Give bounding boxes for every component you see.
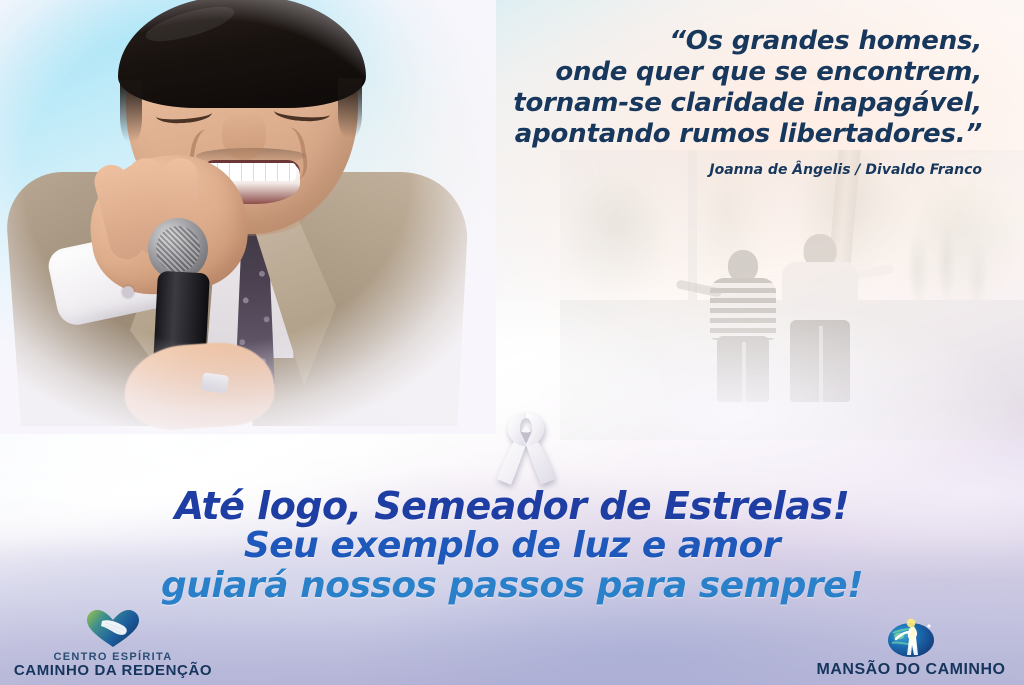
- logo-left-line-2: CAMINHO DA REDENÇÃO: [14, 663, 212, 679]
- portrait-hair: [118, 0, 366, 108]
- logo-mansao-do-caminho: MANSÃO DO CAMINHO: [808, 617, 1014, 679]
- quote-attribution: Joanna de Ângelis / Divaldo Franco: [442, 162, 982, 178]
- cuff-button: [122, 286, 134, 298]
- headline-line-3: guiará nossos passos para sempre!: [0, 566, 1024, 606]
- portrait-nose: [222, 112, 266, 160]
- headline-line-2: Seu exemplo de luz e amor: [0, 526, 1024, 566]
- microphone-grill: [156, 226, 200, 272]
- globe-figure-icon: [885, 617, 937, 659]
- logo-right-text: MANSÃO DO CAMINHO: [817, 662, 1006, 679]
- quote-block: “Os grandes homens, onde quer que se enc…: [442, 26, 982, 178]
- white-awareness-ribbon-icon: [489, 409, 563, 487]
- logo-left-text: CENTRO ESPÍRITA CAMINHO DA REDENÇÃO: [14, 652, 212, 679]
- headline-block: Até logo, Semeador de Estrelas! Seu exem…: [0, 486, 1024, 606]
- logo-centro-espirita: CENTRO ESPÍRITA CAMINHO DA REDENÇÃO: [10, 609, 216, 679]
- speaker-portrait: [6, 0, 476, 424]
- microphone-head: [148, 218, 208, 280]
- poster-canvas: “Os grandes homens, onde quer que se enc…: [0, 0, 1024, 685]
- portrait-ring: [201, 372, 229, 393]
- logo-right-line-2: MANSÃO DO CAMINHO: [817, 662, 1006, 679]
- quote-line-1: “Os grandes homens,: [442, 26, 982, 57]
- quote-line-4: apontando rumos libertadores.”: [442, 119, 982, 150]
- headline-line-1: Até logo, Semeador de Estrelas!: [0, 486, 1024, 526]
- portrait-sideburn-left: [120, 80, 142, 142]
- quote-line-2: onde quer que se encontrem,: [442, 57, 982, 88]
- quote-line-3: tornam-se claridade inapagável,: [442, 88, 982, 119]
- portrait-sideburn-right: [338, 78, 362, 138]
- heart-hands-icon: [85, 609, 141, 649]
